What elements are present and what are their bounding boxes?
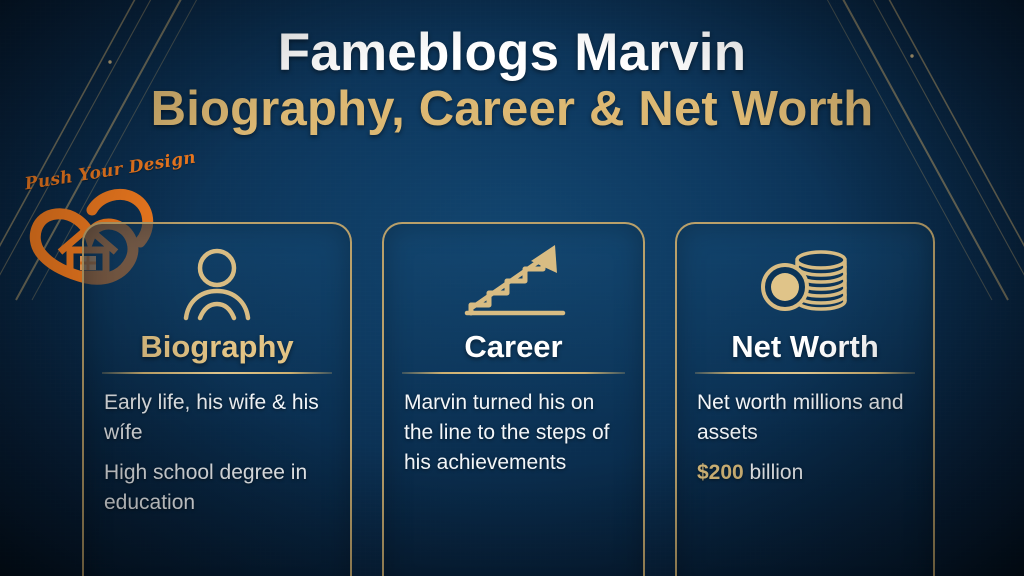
page-title: Fameblogs Marvin Biography, Career & Net…: [0, 24, 1024, 139]
card-body-net-worth: Net worth millions and assets $200 billi…: [693, 388, 917, 487]
title-line-primary: Fameblogs Marvin: [0, 24, 1024, 81]
title-underline: [695, 372, 915, 374]
card-title-net-worth: Net Worth: [693, 330, 917, 370]
card-body-biography: Early life, his wife & his wífe High sch…: [100, 388, 334, 517]
card-paragraph: High school degree in education: [104, 458, 330, 518]
card-biography[interactable]: Biography Early life, his wife & his wíf…: [82, 222, 352, 576]
card-title-career: Career: [400, 330, 627, 370]
net-worth-amount: $200: [697, 461, 744, 484]
stairs-up-arrow-icon: [459, 243, 569, 325]
title-line-secondary: Biography, Career & Net Worth: [0, 81, 1024, 139]
card-paragraph: Marvin turned his on the line to the ste…: [404, 388, 623, 477]
title-underline: [102, 372, 332, 374]
card-career[interactable]: Career Marvin turned his on the line to …: [382, 222, 645, 576]
card-paragraph: Net worth millions and assets: [697, 388, 913, 448]
card-amount-line: $200 billion: [697, 458, 913, 488]
person-profile-icon: [178, 244, 256, 324]
card-body-career: Marvin turned his on the line to the ste…: [400, 388, 627, 477]
title-underline: [402, 372, 625, 374]
card-paragraph: Early life, his wife & his wífe: [104, 388, 330, 448]
net-worth-amount-suffix: billion: [744, 461, 804, 484]
card-icon-biography: [100, 238, 334, 330]
coins-stack-icon: [753, 243, 857, 325]
infographic-canvas: Fameblogs Marvin Biography, Career & Net…: [0, 0, 1024, 576]
card-icon-career: [400, 238, 627, 330]
card-net-worth[interactable]: Net Worth Net worth millions and assets …: [675, 222, 935, 576]
card-title-biography: Biography: [100, 330, 334, 370]
card-icon-net-worth: [693, 238, 917, 330]
